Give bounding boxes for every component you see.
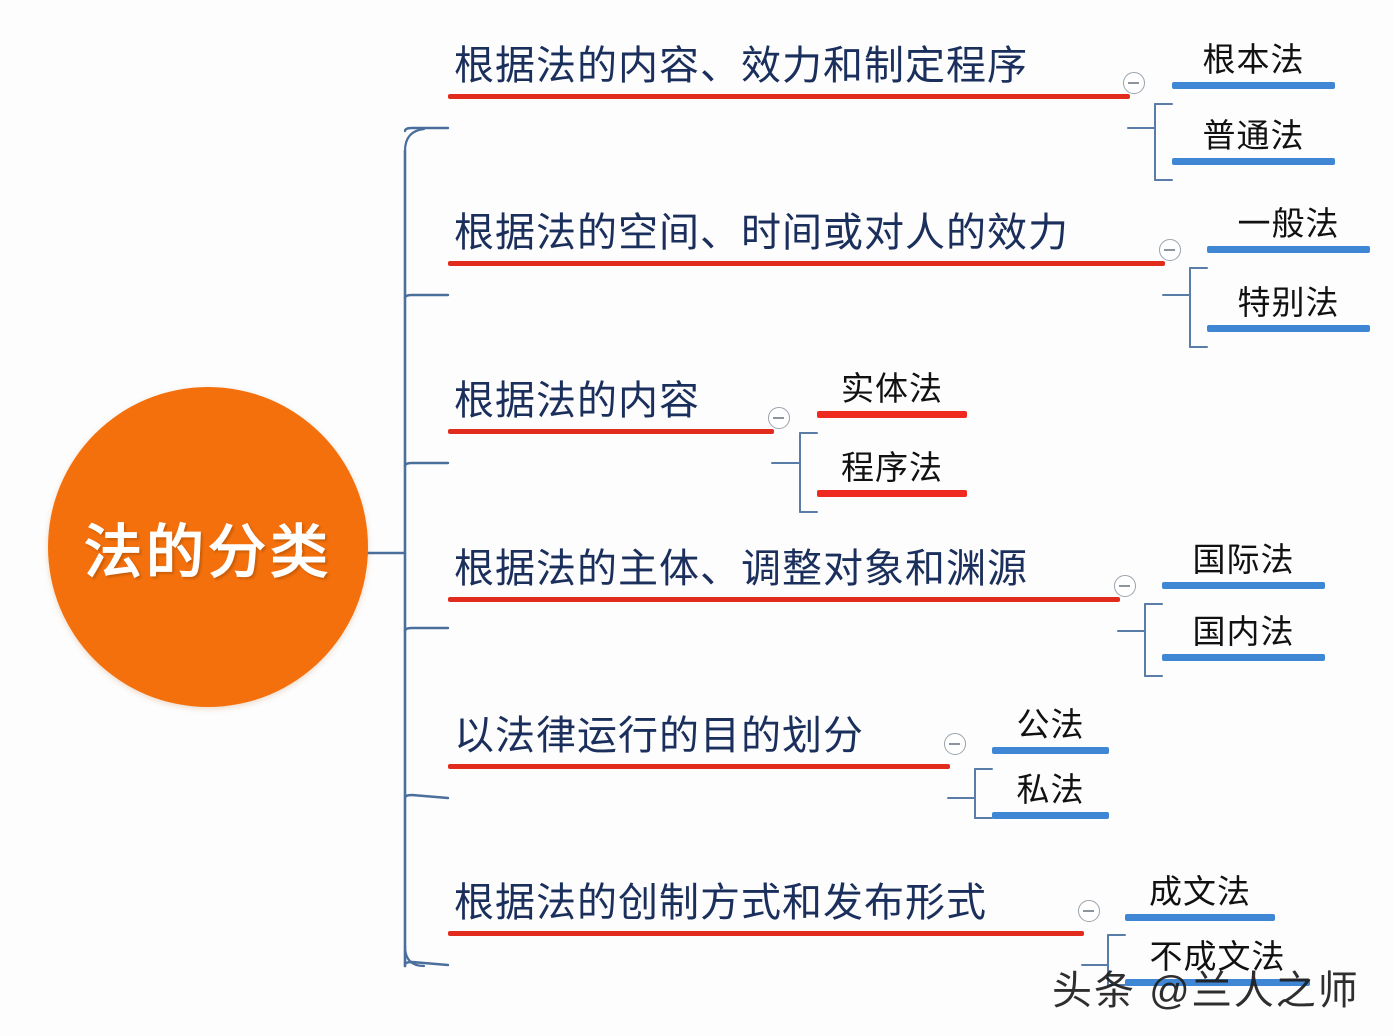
branch-label-6: 根据法的创制方式和发布形式 [448, 881, 1084, 931]
center-node[interactable]: 法的分类 [48, 387, 368, 707]
minus-circle-icon-branch-4[interactable] [1114, 575, 1136, 597]
branch-node-4[interactable]: 根据法的主体、调整对象和渊源 [448, 547, 1120, 602]
leaf-node-4-1[interactable]: 国际法 [1162, 542, 1325, 589]
branch-elbow-4 [405, 628, 448, 631]
leaf-node-5-1[interactable]: 公法 [992, 707, 1109, 754]
branch-node-6[interactable]: 根据法的创制方式和发布形式 [448, 881, 1084, 936]
center-node-label: 法的分类 [84, 505, 332, 589]
leaf-node-1-2[interactable]: 普通法 [1172, 118, 1335, 165]
minus-circle-icon-branch-1[interactable] [1123, 72, 1145, 94]
leaf-underline-2-1 [1207, 246, 1370, 253]
branch-label-5: 以法律运行的目的划分 [448, 714, 950, 764]
trunk-cap-top [405, 129, 424, 151]
leaf-arms-2 [1190, 268, 1207, 347]
minus-circle-icon-branch-6[interactable] [1078, 900, 1100, 922]
leaf-node-3-1[interactable]: 实体法 [817, 371, 967, 418]
leaf-underline-5-1 [992, 747, 1109, 754]
leaf-node-2-1[interactable]: 一般法 [1207, 206, 1370, 253]
leaf-node-4-2[interactable]: 国内法 [1162, 614, 1325, 661]
branch-elbow-1 [405, 128, 448, 131]
leaf-underline-1-2 [1172, 158, 1335, 165]
leaf-underline-5-2 [992, 812, 1109, 819]
branch-elbow-5 [405, 795, 448, 798]
leaf-label-4-1: 国际法 [1162, 542, 1325, 582]
branch-underline-5 [448, 764, 950, 769]
leaf-underline-2-2 [1207, 325, 1370, 332]
branch-elbow-6 [405, 962, 448, 965]
leaf-underline-4-2 [1162, 654, 1325, 661]
branch-underline-1 [448, 94, 1130, 99]
branch-underline-2 [448, 261, 1165, 266]
leaf-label-5-2: 私法 [992, 772, 1109, 812]
branch-elbow-2 [405, 295, 448, 298]
branch-label-3: 根据法的内容 [448, 379, 774, 429]
branch-label-2: 根据法的空间、时间或对人的效力 [448, 211, 1165, 261]
branch-underline-6 [448, 931, 1084, 936]
leaf-node-3-2[interactable]: 程序法 [817, 450, 967, 497]
branch-label-1: 根据法的内容、效力和制定程序 [448, 44, 1130, 94]
leaf-arms-3 [800, 433, 817, 512]
leaf-arms-1 [1155, 104, 1172, 180]
branch-node-2[interactable]: 根据法的空间、时间或对人的效力 [448, 211, 1165, 266]
leaf-node-1-1[interactable]: 根本法 [1172, 42, 1335, 89]
leaf-label-1-1: 根本法 [1172, 42, 1335, 82]
branch-underline-4 [448, 597, 1120, 602]
leaf-underline-3-2 [817, 490, 967, 497]
minus-circle-icon-branch-5[interactable] [944, 733, 966, 755]
leaf-label-4-2: 国内法 [1162, 614, 1325, 654]
branch-underline-3 [448, 429, 774, 434]
leaf-arms-4 [1145, 604, 1162, 676]
branch-node-5[interactable]: 以法律运行的目的划分 [448, 714, 950, 769]
leaf-node-5-2[interactable]: 私法 [992, 772, 1109, 819]
leaf-node-2-2[interactable]: 特别法 [1207, 285, 1370, 332]
trunk-cap-bottom [405, 946, 424, 966]
branch-node-3[interactable]: 根据法的内容 [448, 379, 774, 434]
leaf-underline-1-1 [1172, 82, 1335, 89]
branch-label-4: 根据法的主体、调整对象和渊源 [448, 547, 1120, 597]
branch-node-1[interactable]: 根据法的内容、效力和制定程序 [448, 44, 1130, 99]
leaf-label-1-2: 普通法 [1172, 118, 1335, 158]
branch-elbow-3 [405, 463, 448, 466]
leaf-label-2-1: 一般法 [1207, 206, 1370, 246]
leaf-node-6-1[interactable]: 成文法 [1125, 874, 1275, 921]
leaf-underline-4-1 [1162, 582, 1325, 589]
leaf-underline-6-1 [1125, 914, 1275, 921]
leaf-arms-5 [975, 769, 992, 818]
leaf-label-2-2: 特别法 [1207, 285, 1370, 325]
mindmap-canvas: 法的分类 根据法的内容、效力和制定程序 根本法 普通法 根据法的空间、时间或对人… [0, 0, 1394, 1036]
leaf-underline-3-1 [817, 411, 967, 418]
minus-circle-icon-branch-2[interactable] [1159, 239, 1181, 261]
leaf-label-3-2: 程序法 [817, 450, 967, 490]
minus-circle-icon-branch-3[interactable] [768, 407, 790, 429]
watermark-text: 头条 @兰人之师 [1052, 958, 1360, 1016]
leaf-label-5-1: 公法 [992, 707, 1109, 747]
leaf-label-6-1: 成文法 [1125, 874, 1275, 914]
leaf-label-3-1: 实体法 [817, 371, 967, 411]
